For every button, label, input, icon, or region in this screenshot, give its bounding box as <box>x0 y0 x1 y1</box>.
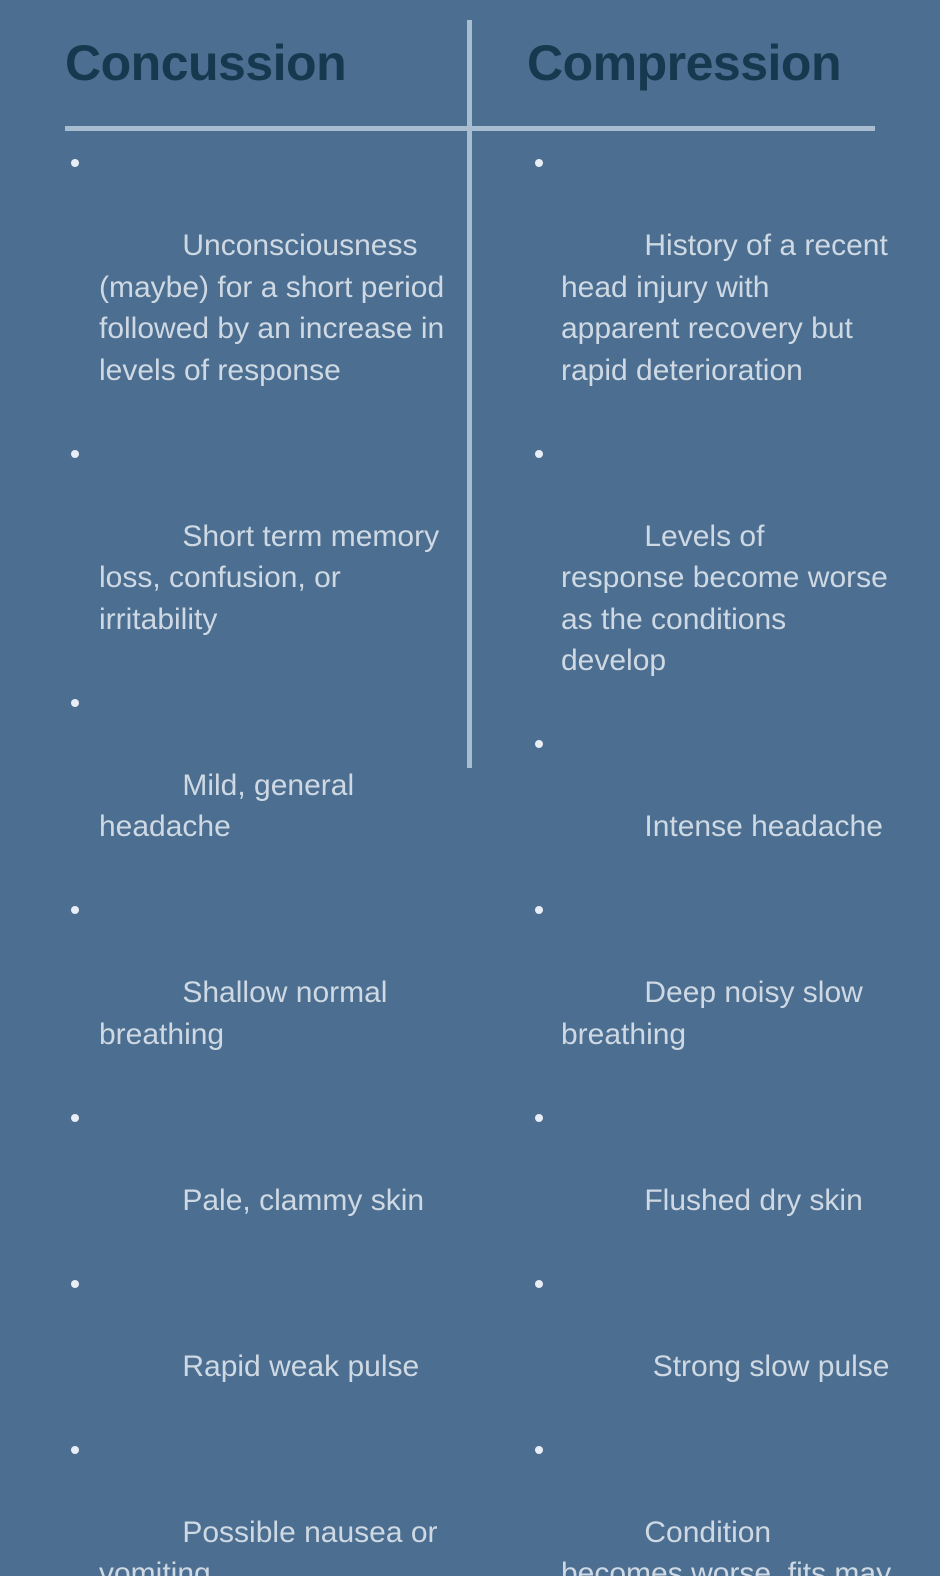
list-item-text: Strong slow pulse <box>644 1350 889 1383</box>
bullet-dot-icon <box>535 159 543 167</box>
list-item: Levels of response become worse as the c… <box>527 433 892 724</box>
bullet-dot-icon <box>71 159 79 167</box>
bullet-dot-icon <box>71 1114 79 1122</box>
bullet-dot-icon <box>535 906 543 914</box>
list-item: Unconsciousness (maybe) for a short peri… <box>65 142 452 433</box>
list-item: History of a recent head injury with app… <box>527 142 892 433</box>
list-item-text: Intense headache <box>644 810 883 843</box>
bullet-dot-icon <box>535 1446 543 1454</box>
list-item: Strong slow pulse <box>527 1263 892 1429</box>
column-heading-concussion: Concussion <box>65 0 452 126</box>
list-item-text: Pale, clammy skin <box>182 1184 424 1217</box>
list-item-text: Condition becomes worse, fits may occur,… <box>561 1516 899 1576</box>
bullet-dot-icon <box>535 450 543 458</box>
list-item: Short term memory loss, confusion, or ir… <box>65 433 452 682</box>
column-compression: Compression History of a recent head inj… <box>470 0 940 788</box>
column-heading-compression: Compression <box>527 0 892 126</box>
bullet-dot-icon <box>71 906 79 914</box>
list-item: Condition becomes worse, fits may occur,… <box>527 1429 892 1576</box>
list-item-text: Rapid weak pulse <box>182 1350 419 1383</box>
bullet-dot-icon <box>71 1280 79 1288</box>
bullet-dot-icon <box>71 699 79 707</box>
list-item: Intense headache <box>527 723 892 889</box>
bullet-dot-icon <box>535 1114 543 1122</box>
bullet-list-concussion: Unconsciousness (maybe) for a short peri… <box>65 126 452 1576</box>
list-item-text: History of a recent head injury with app… <box>561 229 896 387</box>
comparison-slide: Concussion Unconsciousness (maybe) for a… <box>0 0 940 788</box>
list-item-text: Possible nausea or vomiting <box>99 1516 446 1576</box>
list-item-text: Mild, general headache <box>99 769 362 844</box>
list-item: Shallow normal breathing <box>65 889 452 1097</box>
list-item: Possible nausea or vomiting <box>65 1429 452 1576</box>
list-item: Flushed dry skin <box>527 1097 892 1263</box>
column-concussion: Concussion Unconsciousness (maybe) for a… <box>0 0 470 788</box>
bullet-list-compression: History of a recent head injury with app… <box>527 126 892 1576</box>
columns-container: Concussion Unconsciousness (maybe) for a… <box>0 0 940 788</box>
list-item: Rapid weak pulse <box>65 1263 452 1429</box>
bullet-dot-icon <box>71 450 79 458</box>
bullet-dot-icon <box>535 740 543 748</box>
list-item: Mild, general headache <box>65 682 452 890</box>
list-item-text: Short term memory loss, confusion, or ir… <box>99 520 447 636</box>
list-item-text: Shallow normal breathing <box>99 976 396 1051</box>
list-item: Pale, clammy skin <box>65 1097 452 1263</box>
list-item: Deep noisy slow breathing <box>527 889 892 1097</box>
list-item-text: Unconsciousness (maybe) for a short peri… <box>99 229 453 387</box>
bullet-dot-icon <box>71 1446 79 1454</box>
list-item-text: Deep noisy slow breathing <box>561 976 871 1051</box>
list-item-text: Flushed dry skin <box>644 1184 862 1217</box>
bullet-dot-icon <box>535 1280 543 1288</box>
list-item-text: Levels of response become worse as the c… <box>561 520 896 678</box>
